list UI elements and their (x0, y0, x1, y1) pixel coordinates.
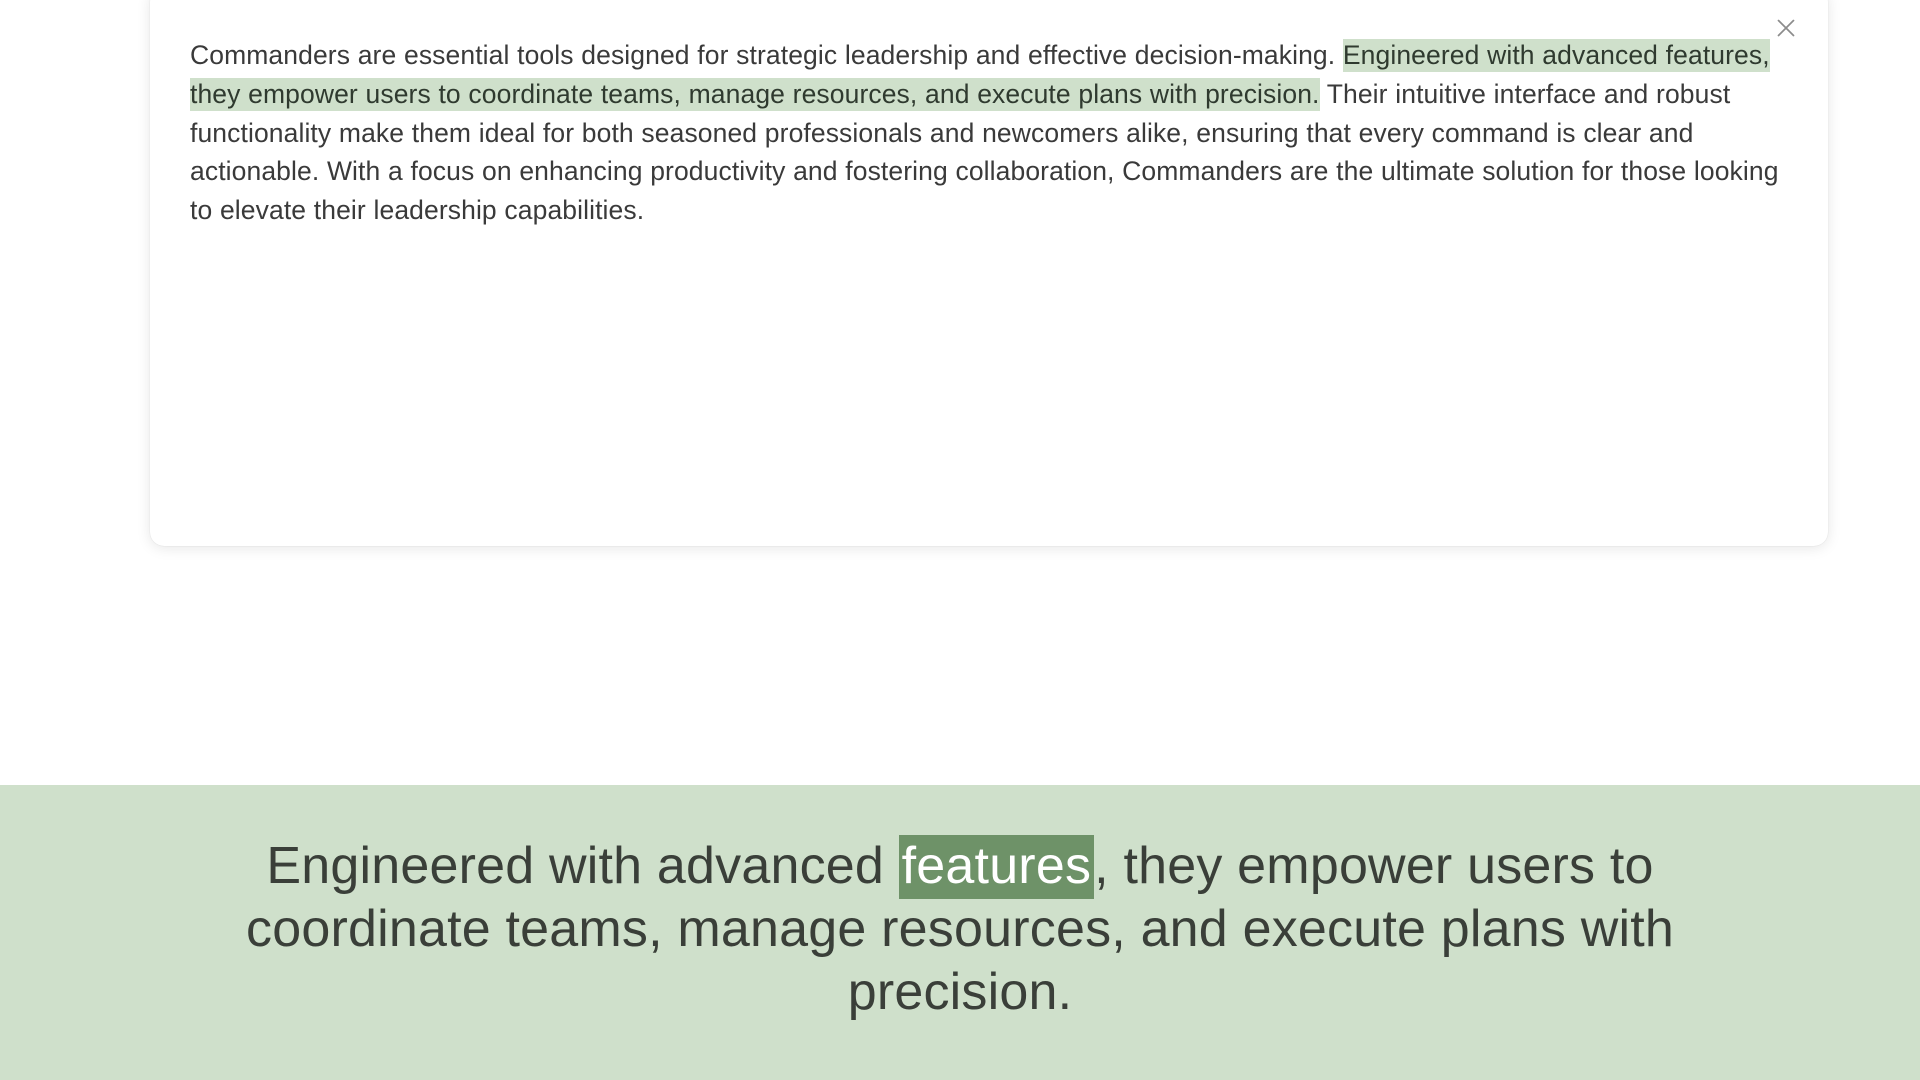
banner-sentence: Engineered with advanced features, they … (90, 785, 1830, 1024)
card-region: Commanders are essential tools designed … (0, 0, 1920, 785)
card-body: Commanders are essential tools designed … (190, 36, 1784, 230)
content-card: Commanders are essential tools designed … (150, 0, 1828, 546)
banner-text-before: Engineered with advanced (266, 837, 898, 895)
paragraph-segment-one: Commanders are essential tools designed … (190, 40, 1343, 70)
description-paragraph: Commanders are essential tools designed … (190, 36, 1784, 230)
highlight-banner: Engineered with advanced features, they … (0, 785, 1920, 1080)
emphasized-word[interactable]: features (899, 835, 1095, 899)
